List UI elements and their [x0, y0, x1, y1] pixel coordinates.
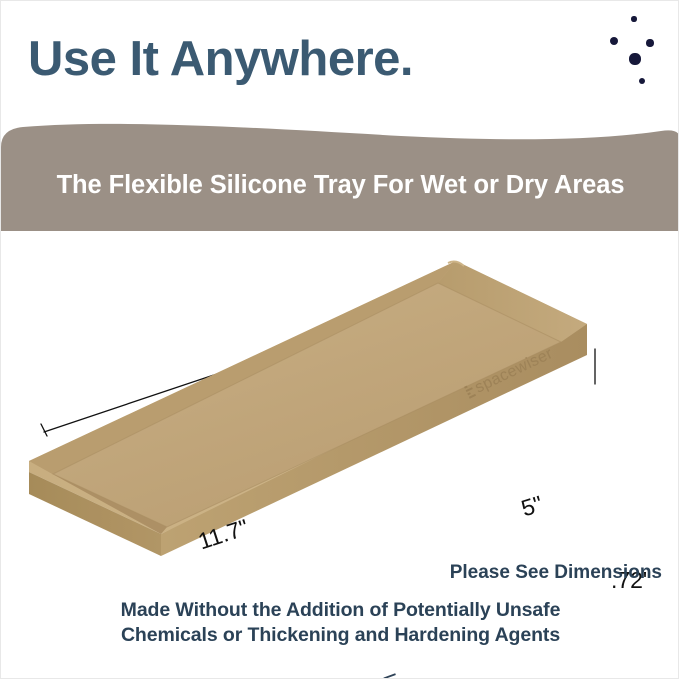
- subtitle-banner: The Flexible Silicone Tray For Wet or Dr…: [1, 109, 679, 231]
- decorative-dot: [646, 39, 653, 46]
- product-marketing-image: Use It Anywhere. The Flexible Silicone T…: [0, 0, 679, 679]
- footer-copy: Please See Dimensions Made Without the A…: [1, 561, 679, 648]
- safety-claim: Made Without the Addition of Potentially…: [1, 598, 679, 648]
- decorative-dot: [639, 78, 645, 84]
- decorative-dot: [631, 16, 636, 21]
- decorative-dot: [610, 37, 619, 46]
- safety-claim-line-2: Chemicals or Thickening and Hardening Ag…: [1, 623, 679, 648]
- flexible-callout-label: FLEXIBLE: [287, 668, 405, 679]
- decorative-dot: [629, 53, 640, 64]
- product-photo-area: spacewiser 11.7" 5" .72" FLEXIBLE: [1, 229, 679, 569]
- silicone-tray-illustration: spacewiser: [1, 229, 679, 569]
- safety-claim-line-1: Made Without the Addition of Potentially…: [1, 598, 679, 623]
- page-title: Use It Anywhere.: [28, 35, 413, 84]
- decorative-dots-cluster: [604, 1, 674, 71]
- banner-shape: [1, 109, 679, 231]
- dimensions-note: Please See Dimensions: [1, 561, 679, 585]
